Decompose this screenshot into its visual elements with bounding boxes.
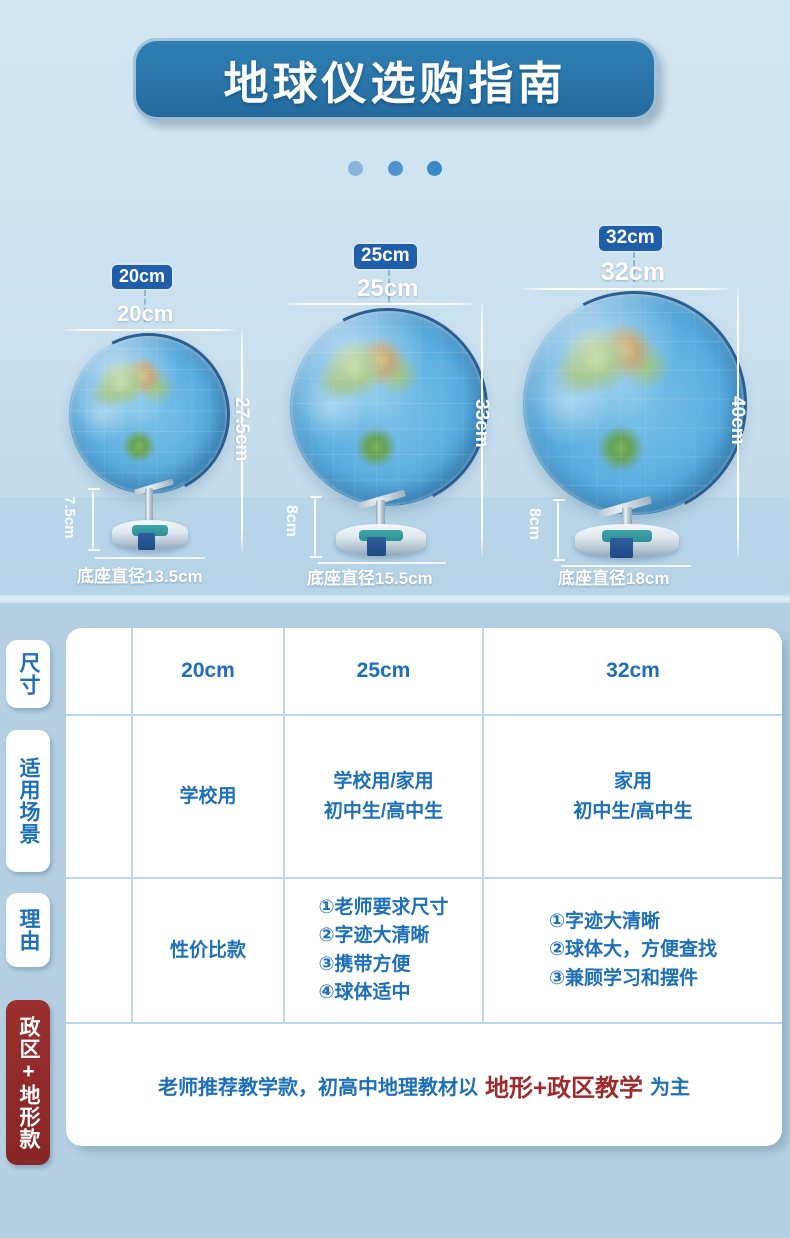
base-height-label-20cm: 7.5cm — [61, 496, 78, 539]
dot-3-icon — [427, 161, 442, 176]
base-height-tick-top-20cm — [88, 488, 100, 490]
width-label-25cm: 25cm — [357, 275, 418, 303]
page-title: 地球仪选购指南 — [223, 47, 566, 112]
row-note-cell: 老师推荐教学款，初高中地理教材以 地形+政区教学 为主 — [66, 1024, 782, 1146]
width-label-32cm: 32cm — [601, 258, 665, 287]
note-text-highlight: 地形+政区教学 — [478, 1068, 650, 1103]
table-row-reason: 性价比款 ①老师要求尺寸 ②字迹大清晰 ③携带方便 ④球体适中 ①字迹大清晰 ②… — [66, 879, 782, 1024]
background-shelf-divider — [0, 595, 790, 603]
list-item: ③兼顾学习和摆件 — [549, 965, 717, 994]
base-height-tick-top-25cm — [310, 496, 322, 498]
row-scene-25cm-line1: 学校用/家用 — [324, 767, 443, 796]
note-text-after: 为主 — [650, 1071, 690, 1100]
size-badge-20cm: 20cm — [110, 263, 174, 291]
side-tab-scene: 适用场景 — [6, 730, 50, 872]
base-diameter-rule-20cm — [95, 557, 205, 559]
list-item: ③携带方便 — [318, 951, 448, 980]
row-size-cell-25cm: 25cm — [285, 628, 484, 714]
dot-1-icon — [348, 161, 363, 176]
size-badge-25cm: 25cm — [352, 242, 419, 271]
row-scene-cell-32cm: 家用 初中生/高中生 — [484, 716, 782, 877]
row-scene-label-cell — [66, 716, 133, 877]
width-label-20cm: 20cm — [117, 301, 173, 327]
row-scene-20cm-line1: 学校用 — [179, 782, 236, 811]
row-reason-25cm-list: ①老师要求尺寸 ②字迹大清晰 ③携带方便 ④球体适中 — [318, 894, 448, 1008]
globe-sphere-25cm — [290, 310, 486, 506]
width-rule-25cm — [285, 303, 475, 305]
row-scene-cell-20cm: 学校用 — [133, 716, 285, 877]
page-title-banner: 地球仪选购指南 — [133, 38, 657, 120]
base-height-tick-bottom-20cm — [88, 549, 100, 551]
base-diameter-label-25cm: 底座直径15.5cm — [307, 564, 433, 589]
side-tab-style: 政区+地形款 — [6, 1000, 50, 1165]
list-item: ②字迹大清晰 — [318, 922, 448, 951]
base-height-rule-32cm — [557, 499, 559, 561]
side-tab-reason-label: 理由 — [17, 908, 39, 952]
base-height-tick-bottom-32cm — [553, 559, 565, 561]
side-tab-size-label: 尺寸 — [17, 652, 39, 696]
base-diameter-label-20cm: 底座直径13.5cm — [77, 562, 203, 587]
row-scene-25cm-line2: 初中生/高中生 — [324, 797, 443, 826]
globe-sphere-20cm — [69, 335, 228, 494]
width-rule-20cm — [63, 329, 236, 331]
base-height-tick-bottom-25cm — [310, 556, 322, 558]
side-tab-style-label: 政区+地形款 — [17, 1016, 39, 1150]
row-reason-32cm-list: ①字迹大清晰 ②球体大，方便查找 ③兼顾学习和摆件 — [549, 908, 717, 994]
decorative-dots — [348, 160, 442, 176]
globe-base-32cm — [575, 524, 679, 558]
note-text-before: 老师推荐教学款，初高中地理教材以 — [158, 1071, 478, 1100]
globe-base-25cm — [336, 524, 426, 556]
base-height-rule-20cm — [92, 488, 94, 551]
list-item: ④球体适中 — [318, 979, 448, 1008]
row-reason-label-cell — [66, 879, 133, 1022]
row-size-cell-20cm: 20cm — [133, 628, 285, 714]
globe-base-20cm — [112, 520, 188, 550]
base-height-tick-top-32cm — [553, 499, 565, 501]
width-rule-32cm — [521, 288, 729, 290]
row-scene-cell-25cm: 学校用/家用 初中生/高中生 — [285, 716, 484, 877]
dot-2-icon — [388, 161, 403, 176]
side-tab-size: 尺寸 — [6, 640, 50, 708]
list-item: ②球体大，方便查找 — [549, 936, 717, 965]
table-row-size: 20cm 25cm 32cm — [66, 628, 782, 716]
row-size-label-cell — [66, 628, 133, 714]
height-label-20cm: 27.5cm — [230, 397, 252, 461]
row-scene-32cm-line2: 初中生/高中生 — [573, 797, 692, 826]
table-row-note: 老师推荐教学款，初高中地理教材以 地形+政区教学 为主 — [66, 1024, 782, 1146]
row-size-cell-32cm: 32cm — [484, 628, 782, 714]
row-reason-cell-32cm: ①字迹大清晰 ②球体大，方便查找 ③兼顾学习和摆件 — [484, 879, 782, 1022]
row-reason-cell-20cm: 性价比款 — [133, 879, 285, 1022]
side-tab-scene-label: 适用场景 — [17, 757, 39, 845]
base-diameter-label-32cm: 底座直径18cm — [558, 564, 669, 589]
title-banner-body: 地球仪选购指南 — [133, 38, 657, 120]
table-row-scene: 学校用 学校用/家用 初中生/高中生 家用 初中生/高中生 — [66, 716, 782, 879]
list-item: ①字迹大清晰 — [549, 908, 717, 937]
base-height-label-32cm: 8cm — [525, 508, 543, 540]
globe-sphere-32cm — [523, 293, 745, 515]
row-reason-cell-25cm: ①老师要求尺寸 ②字迹大清晰 ③携带方便 ④球体适中 — [285, 879, 484, 1022]
base-height-rule-25cm — [314, 496, 316, 558]
row-reason-20cm-text: 性价比款 — [170, 936, 246, 965]
side-tab-reason: 理由 — [6, 893, 50, 967]
height-label-25cm: 33cm — [470, 399, 492, 448]
comparison-table: 20cm 25cm 32cm 学校用 学校用/家用 初中生/高中生 家用 初中生… — [66, 628, 782, 1146]
row-scene-32cm-line1: 家用 — [573, 767, 692, 796]
base-height-label-25cm: 8cm — [282, 505, 300, 537]
height-label-32cm: 40cm — [726, 396, 748, 445]
size-badge-32cm: 32cm — [597, 224, 664, 253]
list-item: ①老师要求尺寸 — [318, 894, 448, 923]
